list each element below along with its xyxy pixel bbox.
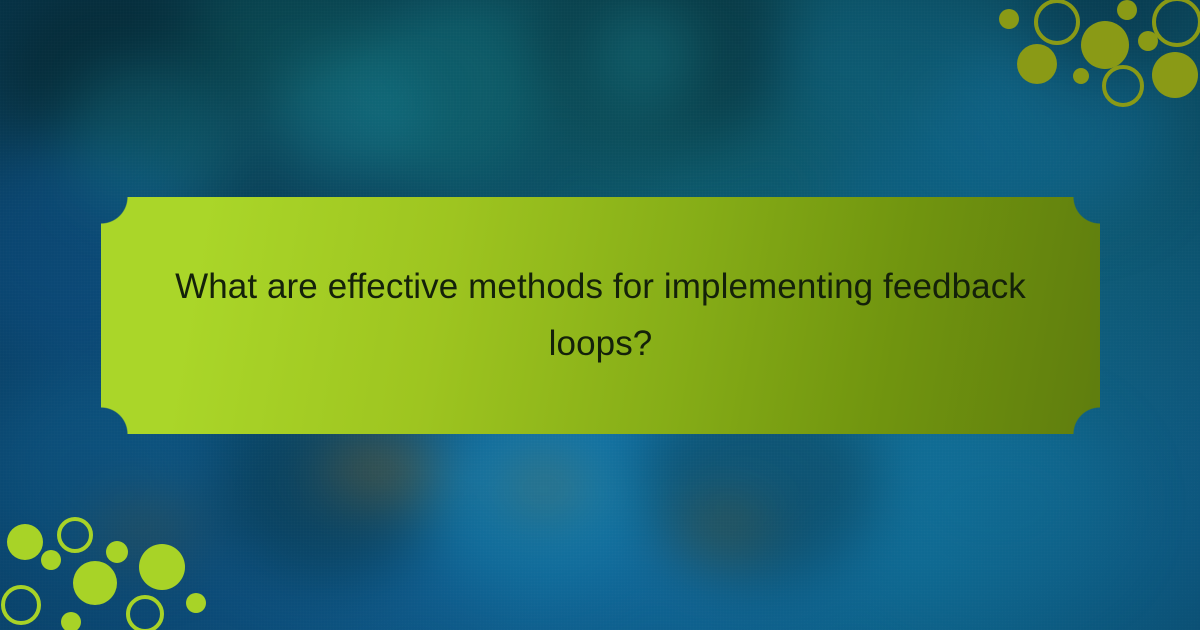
decorative-circle-ring <box>1152 0 1200 47</box>
decorative-circle-filled <box>61 612 81 630</box>
decorative-circle-ring <box>57 517 93 553</box>
decorative-circle-ring <box>1 585 41 625</box>
decorative-circle-filled <box>1017 44 1057 84</box>
decorative-circle-ring <box>1034 0 1080 45</box>
decorative-circle-filled <box>186 593 206 613</box>
decorative-circle-ring <box>126 595 164 630</box>
decorative-circle-filled <box>1138 31 1158 51</box>
question-card-canvas: What are effective methods for implement… <box>0 0 1200 630</box>
decorative-circle-filled <box>139 544 185 590</box>
circle-cluster-bottom-left <box>0 510 220 630</box>
decorative-circle-filled <box>7 524 43 560</box>
circle-cluster-top-right <box>980 0 1200 120</box>
question-text: What are effective methods for implement… <box>161 259 1040 372</box>
question-card: What are effective methods for implement… <box>101 197 1100 434</box>
decorative-circle-ring <box>1102 65 1144 107</box>
decorative-circle-filled <box>106 541 128 563</box>
decorative-circle-filled <box>73 561 117 605</box>
decorative-circle-filled <box>41 550 61 570</box>
decorative-circle-filled <box>999 9 1019 29</box>
decorative-circle-filled <box>1152 52 1198 98</box>
decorative-circle-filled <box>1073 68 1089 84</box>
decorative-circle-filled <box>1117 0 1137 20</box>
decorative-circle-filled <box>1081 21 1129 69</box>
